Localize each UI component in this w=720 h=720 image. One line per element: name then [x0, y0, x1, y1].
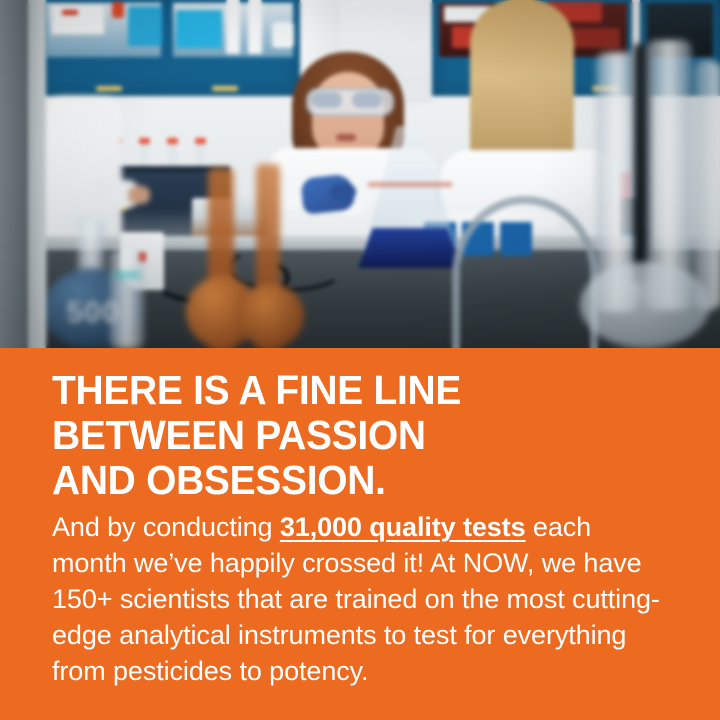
scientist-left-hand [128, 186, 150, 204]
shelf-item [62, 10, 78, 15]
shelf-item [52, 4, 104, 34]
glass-cylinder [694, 60, 720, 310]
lab-hose [452, 196, 598, 348]
shelf-item [248, 0, 262, 54]
test-tube-cap [167, 138, 178, 144]
volumetric-flask [580, 262, 710, 348]
shelf-item [272, 22, 294, 48]
safety-goggles-lens [352, 92, 382, 108]
highlighted-stat: 31,000 quality tests [280, 512, 526, 542]
body-copy: And by conducting 31,000 quality tests e… [52, 509, 664, 689]
test-tube-cap [139, 138, 150, 144]
cabinet-handle [212, 86, 238, 91]
lab-photo: 500 [0, 0, 720, 348]
blue-glove-fingers [330, 184, 356, 200]
shelf-item [128, 6, 162, 46]
scientist-center-mouth [336, 134, 356, 141]
door-frame [28, 0, 46, 348]
cylinder-marking [114, 272, 140, 278]
amber-flask-bulb [238, 284, 304, 348]
door-frame [0, 0, 28, 348]
test-tube-cap [195, 138, 206, 144]
promo-poster: 500 THERE IS A FINE LINE BETWEEN PASSION… [0, 0, 720, 720]
shelf-item [112, 2, 124, 18]
headline: THERE IS A FINE LINE BETWEEN PASSION AND… [52, 368, 660, 503]
flask-blue-liquid [358, 228, 462, 268]
shelf-item [226, 0, 240, 54]
body-copy-before: And by conducting [52, 512, 280, 542]
safety-goggles-lens [312, 92, 342, 108]
orange-content-panel: THERE IS A FINE LINE BETWEEN PASSION AND… [0, 348, 720, 720]
shelf-item [176, 10, 222, 48]
cabinet-handle [96, 86, 122, 91]
graduated-cylinder [110, 250, 144, 348]
flask-graduation-mark [368, 182, 452, 187]
